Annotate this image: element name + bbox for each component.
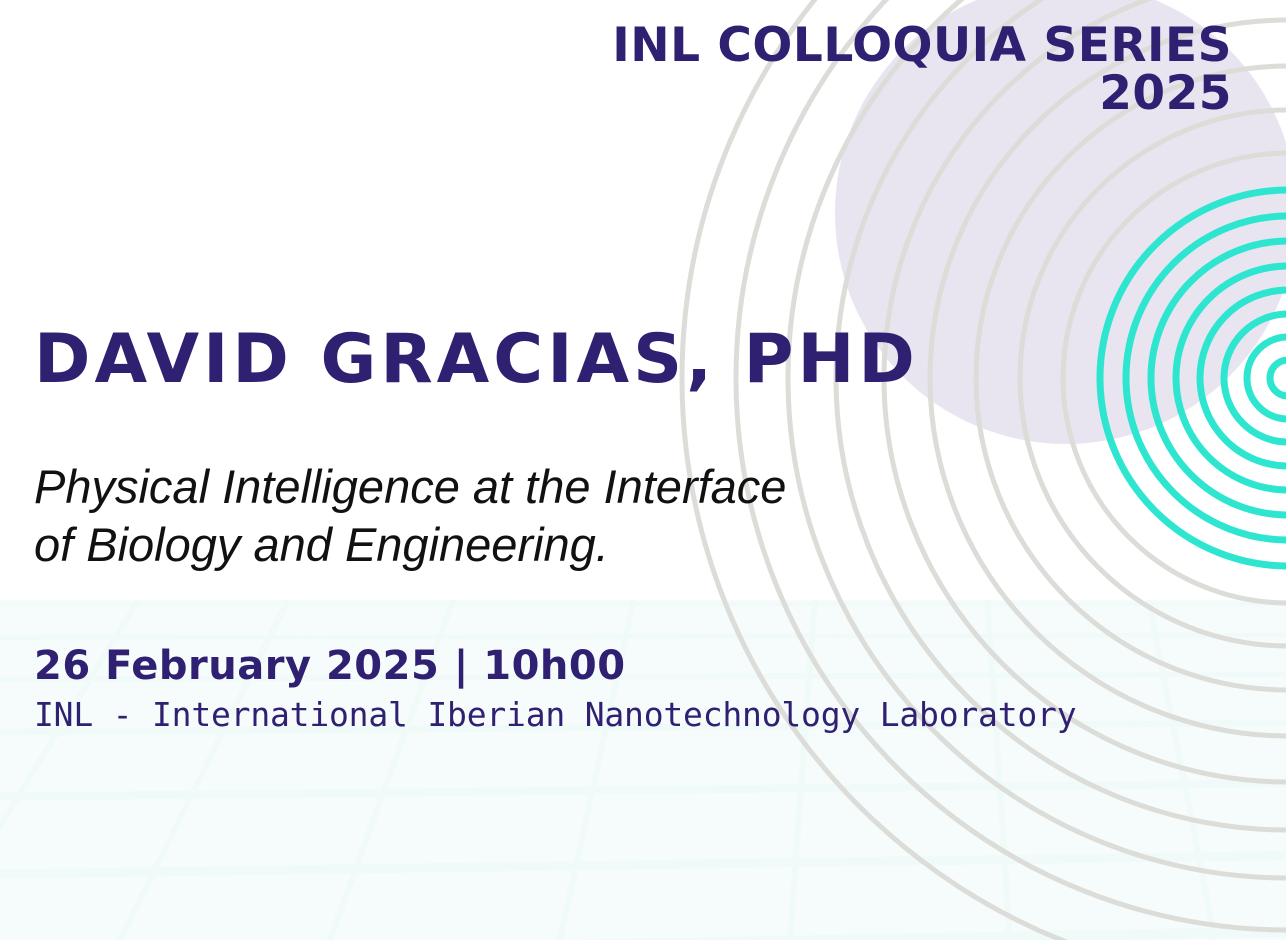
talk-title-line-2: of Biology and Engineering.: [34, 516, 786, 574]
cyan-ring-group: [1100, 190, 1286, 566]
talk-title: Physical Intelligence at the Interface o…: [34, 458, 786, 574]
series-title: INL COLLOQUIA SERIES: [612, 22, 1232, 70]
series-header: INL COLLOQUIA SERIES 2025: [612, 22, 1232, 118]
event-details: 26 February 2025 | 10h00 INL - Internati…: [34, 643, 1076, 734]
event-venue: INL - International Iberian Nanotechnolo…: [34, 695, 1076, 734]
talk-title-line-1: Physical Intelligence at the Interface: [34, 458, 786, 516]
colloquium-poster: INL COLLOQUIA SERIES 2025 DAVID GRACIAS,…: [0, 0, 1286, 940]
series-year: 2025: [612, 70, 1232, 118]
event-datetime: 26 February 2025 | 10h00: [34, 643, 1076, 689]
speaker-name: DAVID GRACIAS, PHD: [34, 320, 919, 399]
